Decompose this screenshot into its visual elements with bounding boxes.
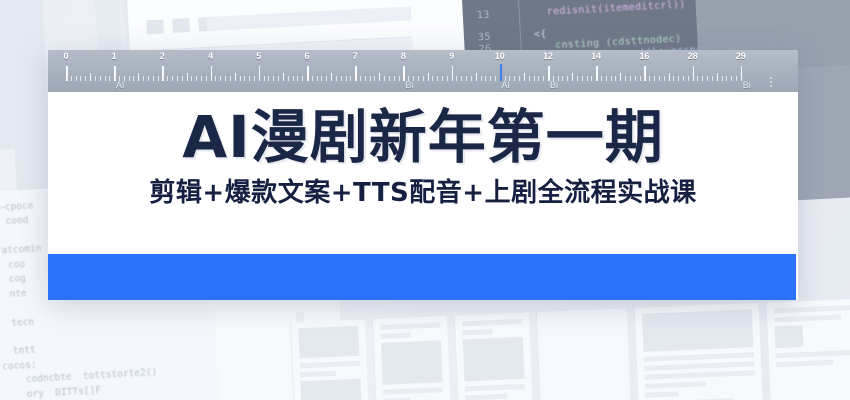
window-dot-icon [827,205,836,214]
editor-line-number: 13 [477,10,491,23]
ruler-tick [66,66,68,81]
ruler-tick [644,66,646,81]
skeleton-card [634,303,763,400]
poster-banner-bar [48,254,796,300]
ruler-tick [548,66,550,81]
ruler-tick [307,66,309,81]
ruler-tick [331,73,332,81]
ruler-number: 29 [736,52,746,61]
ruler-marker-label: Bi [743,81,751,90]
vertical-dots-icon[interactable] [770,77,772,87]
ruler-ticks [48,65,798,81]
poster-body: AI漫剧新年第一期 剪辑+爆款文案+TTS配音+上剧全流程实战课 [48,106,798,209]
ruler-number: 1 [112,52,117,61]
ruler-tick [596,66,598,81]
ruler-tick [524,73,525,81]
ruler-number: 7 [353,52,358,61]
ruler-numbers: 012456789101214162829 [48,52,798,65]
skeleton-card [535,308,631,400]
ruler-tick [355,66,357,81]
ruler-tick [572,73,573,81]
ruler-number: 14 [591,52,601,61]
poster-headline: AI漫剧新年第一期 [48,106,798,169]
ruler-number: 16 [639,52,649,61]
ruler-tick [428,73,429,81]
ruler-tick [717,73,718,81]
ruler-tick [476,73,477,81]
ruler-tick [114,66,116,81]
ruler-tick [693,66,695,81]
ruler-tick [259,66,261,81]
ruler-tick [741,66,743,81]
poster-subline: 剪辑+爆款文案+TTS配音+上剧全流程实战课 [48,179,798,209]
ruler-tick [452,66,454,81]
skeleton-card [765,297,850,400]
ruler-bar[interactable]: 012456789101214162829 AIBiAIBiBi [48,50,798,92]
window-dot-icon [809,206,818,215]
window-dot-icon [172,18,190,33]
ruler-tick [235,73,236,81]
ruler-marker-label: Bi [550,81,558,90]
ruler-number: 5 [256,52,261,61]
ruler-tick [90,73,91,81]
ruler-number: 12 [543,52,553,61]
ruler-number: 6 [304,52,309,61]
ruler-number: 10 [495,52,505,61]
ruler-number: 4 [208,52,213,61]
ruler-marker-label: AI [116,81,125,90]
skeleton-card [372,316,451,400]
ruler-marker-label: AI [502,81,511,90]
skeleton-card [290,319,369,400]
ruler-tick [162,66,164,81]
ruler-tick [211,66,213,81]
poster-card: 012456789101214162829 AIBiAIBiBi AI漫剧新年第… [48,50,798,300]
ruler-marker-label: Bi [405,81,413,90]
window-dot-icon [146,19,164,34]
ruler-number: 8 [401,52,406,61]
ruler-number: 0 [63,52,68,61]
ruler-number: 2 [160,52,165,61]
ruler-tick [283,73,284,81]
ruler-tick [138,73,139,81]
ruler-number: 9 [449,52,454,61]
ruler-tick [187,73,188,81]
skeleton-card [454,313,533,400]
ruler-tick [620,73,621,81]
ruler-tick [669,73,670,81]
ruler-labels: AIBiAIBiBi [48,81,798,92]
editor-code-line: redisnit(itemeditcrl)) [546,0,686,19]
ruler-tick [379,73,380,81]
ruler-tick [403,66,405,81]
ruler-caret-marker[interactable] [500,64,502,81]
browser-address-bar [206,6,411,31]
ruler-number: 28 [688,52,698,61]
